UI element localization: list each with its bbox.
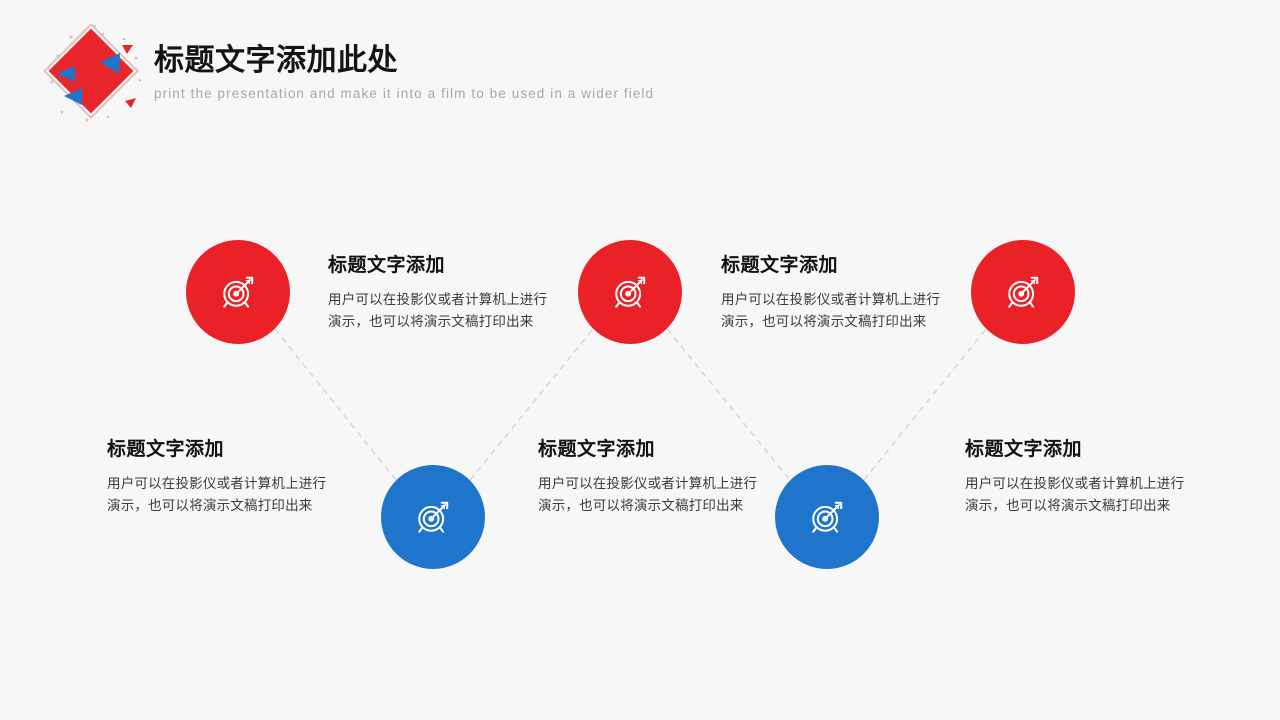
node-circle-1[interactable] xyxy=(186,240,290,344)
item-body: 用户可以在投影仪或者计算机上进行演示，也可以将演示文稿打印出来 xyxy=(538,473,768,518)
item-body: 用户可以在投影仪或者计算机上进行演示，也可以将演示文稿打印出来 xyxy=(721,289,951,334)
item-body: 用户可以在投影仪或者计算机上进行演示，也可以将演示文稿打印出来 xyxy=(328,289,558,334)
target-arrow-icon xyxy=(411,495,455,539)
process-diagram: 标题文字添加 用户可以在投影仪或者计算机上进行演示，也可以将演示文稿打印出来 标… xyxy=(0,0,1280,720)
target-arrow-icon xyxy=(608,270,652,314)
text-block-1: 标题文字添加 用户可以在投影仪或者计算机上进行演示，也可以将演示文稿打印出来 xyxy=(328,254,558,333)
item-body: 用户可以在投影仪或者计算机上进行演示，也可以将演示文稿打印出来 xyxy=(107,473,337,518)
node-circle-4[interactable] xyxy=(381,465,485,569)
item-title: 标题文字添加 xyxy=(328,254,558,278)
target-arrow-icon xyxy=(805,495,849,539)
text-block-3: 标题文字添加 用户可以在投影仪或者计算机上进行演示，也可以将演示文稿打印出来 xyxy=(107,438,337,517)
text-block-5: 标题文字添加 用户可以在投影仪或者计算机上进行演示，也可以将演示文稿打印出来 xyxy=(965,438,1195,517)
target-arrow-icon xyxy=(216,270,260,314)
text-block-4: 标题文字添加 用户可以在投影仪或者计算机上进行演示，也可以将演示文稿打印出来 xyxy=(538,438,768,517)
item-title: 标题文字添加 xyxy=(965,438,1195,462)
item-title: 标题文字添加 xyxy=(721,254,951,278)
item-title: 标题文字添加 xyxy=(538,438,768,462)
text-block-2: 标题文字添加 用户可以在投影仪或者计算机上进行演示，也可以将演示文稿打印出来 xyxy=(721,254,951,333)
item-title: 标题文字添加 xyxy=(107,438,337,462)
connector-lines xyxy=(0,0,1280,720)
node-circle-5[interactable] xyxy=(775,465,879,569)
node-circle-3[interactable] xyxy=(971,240,1075,344)
item-body: 用户可以在投影仪或者计算机上进行演示，也可以将演示文稿打印出来 xyxy=(965,473,1195,518)
node-circle-2[interactable] xyxy=(578,240,682,344)
target-arrow-icon xyxy=(1001,270,1045,314)
